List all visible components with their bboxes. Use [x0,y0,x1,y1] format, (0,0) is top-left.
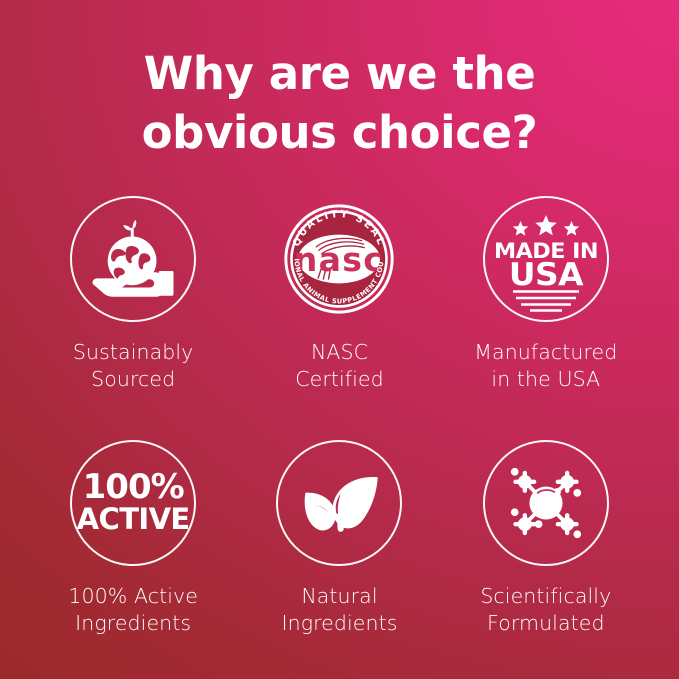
benefit-caption-line-2: in the USA [474,366,617,393]
benefit-caption: Scientifically Formulated [480,583,611,638]
nasc-quality-seal-icon: nasc QUALITY SEAL NATIONAL ANIMAL SUPPLE… [278,196,400,322]
benefit-caption: Manufactured in the USA [474,339,617,394]
benefit-caption: 100% Active Ingredients [68,583,198,638]
benefits-grid: Sustainably Sourced [30,196,649,679]
benefit-caption-line-1: Scientifically [480,583,611,610]
molecule-icon [500,457,592,549]
usa-text: USA [509,256,584,293]
page-title: Why are we the obvious choice? [0,44,679,163]
benefit-icon-circle: MADE IN USA [483,196,609,322]
benefit-sustainably-sourced: Sustainably Sourced [30,196,236,440]
benefit-icon-circle [70,196,196,322]
benefit-icon-circle: nasc QUALITY SEAL NATIONAL ANIMAL SUPPLE… [276,196,402,322]
benefit-scientifically-formulated: Scientifically Formulated [443,440,649,679]
benefit-nasc-certified: nasc QUALITY SEAL NATIONAL ANIMAL SUPPLE… [236,196,442,440]
why-choose-us-poster: Why are we the obvious choice? [0,0,679,679]
benefit-icon-circle [483,440,609,566]
benefit-icon-circle [276,440,402,566]
page-title-line-1: Why are we the [0,44,679,103]
benefit-caption-line-1: Sustainably [73,339,193,366]
active-badge-line-1: 100% [58,471,208,504]
leaves-icon [296,460,382,546]
benefit-caption: NASC Certified [295,339,384,394]
benefit-caption-line-2: Ingredients [281,610,397,637]
active-badge-line-2: ACTIVE [58,504,208,535]
benefit-caption-line-2: Formulated [480,610,611,637]
benefit-caption-line-2: Certified [295,366,384,393]
benefit-caption-line-2: Ingredients [68,610,198,637]
benefit-caption-line-1: 100% Active [68,583,198,610]
benefit-caption-line-1: Manufactured [474,339,617,366]
benefit-hundred-percent-active: 100% ACTIVE 100% Active Ingredients [30,440,236,679]
hundred-percent-active-icon: 100% ACTIVE [58,471,208,535]
benefit-natural-ingredients: Natural Ingredients [236,440,442,679]
stars-group [513,215,579,236]
benefit-caption: Sustainably Sourced [73,339,193,394]
page-title-line-2: obvious choice? [0,103,679,162]
benefit-icon-circle: 100% ACTIVE [70,440,196,566]
nasc-wordmark: nasc [294,240,384,279]
benefit-caption: Natural Ingredients [281,583,397,638]
benefit-made-in-usa: MADE IN USA Manufactured in the USA [443,196,649,440]
stripes-group [513,292,579,311]
benefit-caption-line-2: Sourced [73,366,193,393]
made-in-usa-icon: MADE IN USA [490,203,602,315]
globe-in-hand-icon [87,213,179,305]
benefit-caption-line-1: NASC [295,339,384,366]
benefit-caption-line-1: Natural [281,583,397,610]
